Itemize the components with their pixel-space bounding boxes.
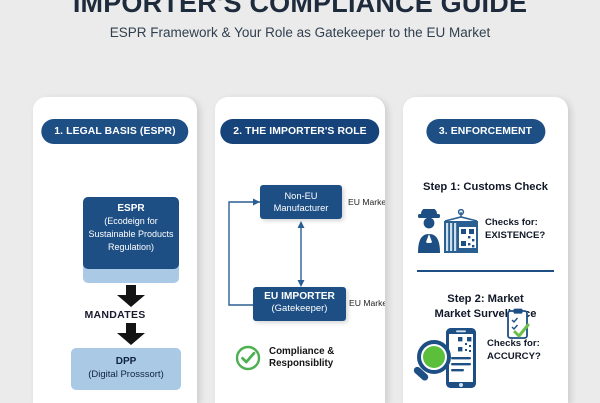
check-circle-icon: [235, 345, 261, 371]
arrow-down-icon-1: [115, 285, 147, 307]
arrow-down-icon-2: [115, 323, 147, 345]
compliance-block: Compliance & Responsiblity: [235, 345, 334, 371]
eu-importer-detail: (Gatekeeper): [272, 303, 328, 314]
card1-pill-label: 1. LEGAL BASIS (ESPR): [41, 119, 188, 144]
dpp-title: DPP: [71, 355, 181, 368]
espr-title: ESPR: [83, 202, 179, 215]
non-eu-manufacturer-label: Non-EU Manufacturer: [274, 191, 329, 213]
espr-box: ESPR (Ecodeign for Sustainable Products …: [83, 197, 179, 269]
step1-checks: Checks for: EXISTENCE?: [485, 216, 545, 242]
section-divider: [417, 270, 554, 272]
espr-detail: (Ecodeign for Sustainable Products Regul…: [88, 216, 173, 252]
non-eu-manufacturer-box: Non-EU Manufacturer: [260, 185, 342, 219]
page-title: IMPORTER'S COMPLIANCE GUIDE: [0, 0, 600, 19]
step2-heading: Step 2: Market Market Survellance: [403, 292, 568, 322]
eu-importer-title: EU IMPORTER: [253, 291, 346, 303]
card-enforcement: 3. ENFORCEMENT Step 1: Customs Check: [403, 97, 568, 403]
card-importer-role: 2. THE IMPORTER'S ROLE Non-EU Manufactur…: [215, 97, 385, 403]
smartphone-qr-scan-icon: [408, 325, 488, 396]
step1-checks-line-1: Checks for:: [485, 216, 545, 229]
eu-market-label-2: EU Market: [349, 298, 385, 308]
step2-checks-line-2: ACCURCY?: [487, 350, 541, 363]
customs-officer-icon: [413, 209, 485, 262]
mandates-label: MANDATES: [33, 309, 197, 321]
eu-market-label-1: EU Market: [348, 197, 385, 207]
step1-checks-line-2: EXISTENCE?: [485, 229, 545, 242]
compliance-line-1: Compliance &: [269, 346, 334, 359]
infographic-page: IMPORTER'S COMPLIANCE GUIDE ESPR Framewo…: [0, 0, 600, 403]
card3-pill-label: 3. ENFORCEMENT: [426, 119, 545, 144]
step2-checks: Checks for: ACCURCY?: [487, 337, 541, 363]
compliance-line-2: Responsiblity: [269, 358, 334, 371]
step2-checks-line-1: Checks for:: [487, 337, 541, 350]
eu-importer-box: EU IMPORTER (Gatekeeper): [253, 287, 346, 321]
step1-heading: Step 1: Customs Check: [403, 180, 568, 195]
page-subtitle: ESPR Framework & Your Role as Gatekeeper…: [0, 25, 600, 40]
step2-heading-line-1: Step 2: Market: [403, 292, 568, 307]
step2-heading-line-2: Market Survellance: [403, 307, 568, 322]
card-legal-basis: 1. LEGAL BASIS (ESPR) ESPR (Ecodeign for…: [33, 97, 197, 403]
dpp-box: DPP (Digital Prosssort): [71, 348, 181, 390]
dpp-detail: (Digital Prosssort): [88, 369, 164, 380]
